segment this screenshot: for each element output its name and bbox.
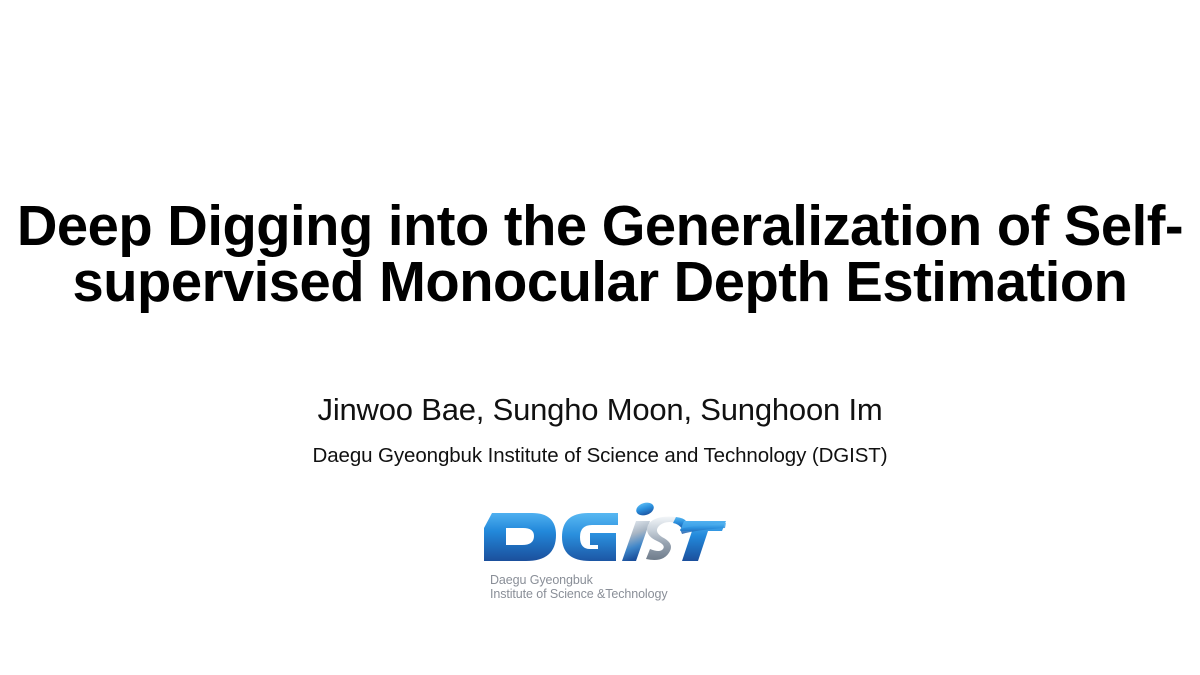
title-line-2: supervised Monocular Depth Estimation — [9, 254, 1191, 310]
affiliation-text: Daegu Gyeongbuk Institute of Science and… — [0, 443, 1200, 469]
author-list: Jinwoo Bae, Sungho Moon, Sunghoon Im — [0, 392, 1200, 428]
logo-tagline-line-2: Institute of Science &Technology — [490, 587, 730, 601]
dgist-wordmark-icon — [470, 495, 730, 577]
logo-tagline-line-1: Daegu Gyeongbuk — [490, 573, 730, 587]
title-slide: Deep Digging into the Generalization of … — [0, 0, 1200, 675]
page-title: Deep Digging into the Generalization of … — [0, 198, 1200, 310]
logo-tagline: Daegu Gyeongbuk Institute of Science &Te… — [490, 573, 730, 601]
title-line-1: Deep Digging into the Generalization of … — [9, 198, 1191, 254]
dgist-logo: Daegu Gyeongbuk Institute of Science &Te… — [470, 495, 730, 613]
